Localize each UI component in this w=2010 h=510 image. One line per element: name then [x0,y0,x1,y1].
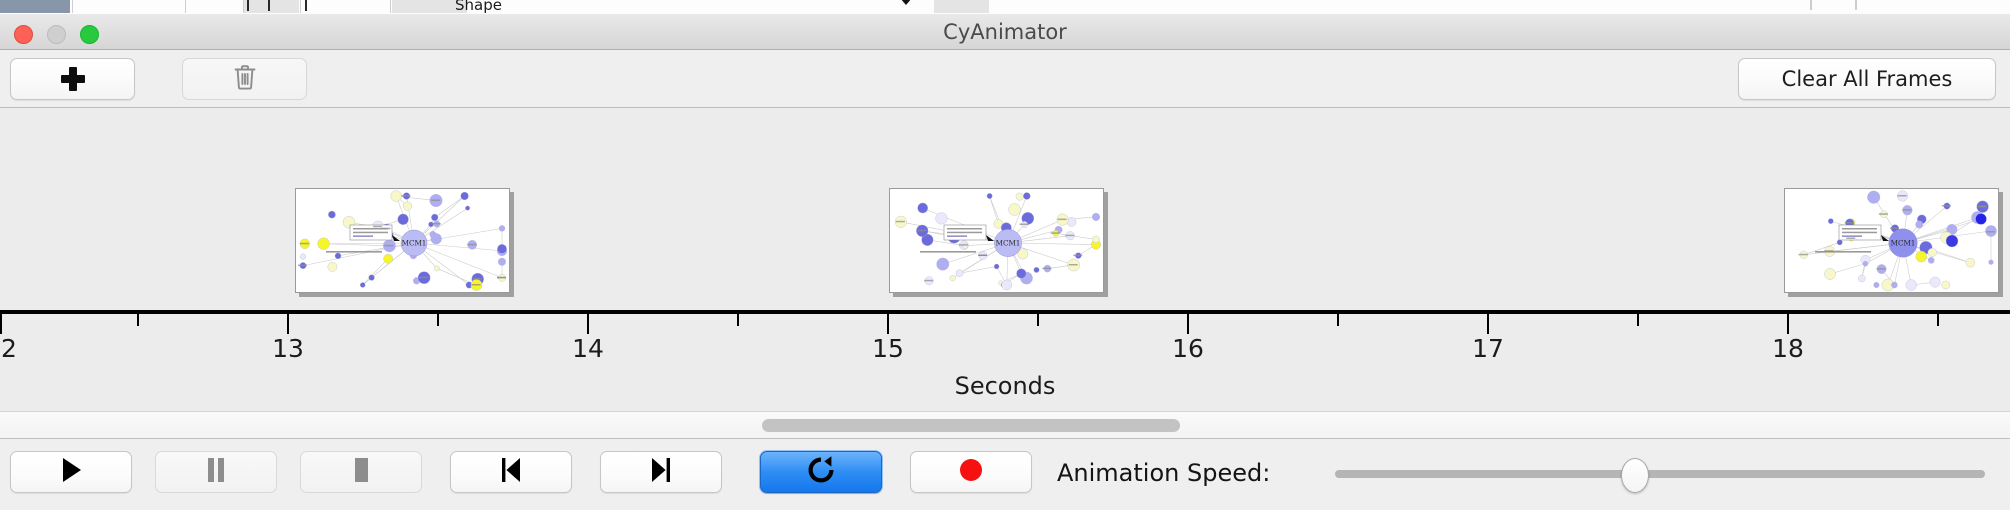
background-column-title: Shape [455,0,502,14]
axis-tick-label: 17 [1472,334,1504,363]
animation-speed-label: Animation Speed: [1057,459,1270,487]
axis-line [0,310,2010,314]
cyanimator-window: Shape CyAnimator [0,0,2010,510]
trash-icon [233,63,257,95]
plus-icon [60,66,86,92]
background-column-separator [390,0,391,13]
record-button[interactable] [910,451,1032,493]
timeline-axis[interactable]: 12131415161718 Seconds [0,310,2010,411]
axis-tick-minor [1037,314,1039,326]
background-tick [305,0,307,11]
background-selected-row [0,0,70,13]
stop-icon [350,456,372,488]
axis-tick-major [1787,314,1789,334]
background-column-separator [72,0,73,13]
background-tick [1855,0,1857,10]
background-column-separator [300,0,301,13]
background-sort-arrow-icon [900,0,912,5]
axis-tick-major [1187,314,1189,334]
axis-tick-major [0,314,2,334]
timeline-panel[interactable]: MCM1 MCM1 MCM1 12131415161718 Seconds [0,108,2010,411]
axis-tick-minor [1337,314,1339,326]
record-icon [957,456,985,488]
network-graph: MCM1 [1785,189,1998,292]
stop-button[interactable] [300,451,422,493]
axis-tick-label: 12 [0,334,17,363]
pause-button[interactable] [155,451,277,493]
delete-frame-button[interactable] [182,58,307,100]
background-column-header-cell [244,0,299,13]
axis-tick-major [287,314,289,334]
svg-text:MCM1: MCM1 [402,239,427,248]
timeline-scrollbar[interactable] [0,411,2010,439]
axis-tick-label: 13 [272,334,304,363]
toolbar: Clear All Frames [0,50,2010,108]
skip-back-icon [498,456,524,488]
background-tick [1810,0,1812,10]
clear-all-frames-button[interactable]: Clear All Frames [1738,58,1996,100]
loop-icon [806,455,836,489]
timeline-frame-thumbnail[interactable]: MCM1 [1784,188,1999,293]
play-icon [59,456,83,488]
loop-button[interactable] [760,451,882,493]
axis-tick-minor [737,314,739,326]
skip-back-button[interactable] [450,451,572,493]
clear-all-frames-label: Clear All Frames [1782,67,1953,91]
axis-tick-minor [1637,314,1639,326]
pause-icon [205,456,227,488]
background-tick [268,0,270,11]
axis-tick-label: 16 [1172,334,1204,363]
animation-speed-slider-thumb[interactable] [1621,458,1649,493]
timeline-frame-thumbnail[interactable]: MCM1 [889,188,1104,293]
background-window-strip: Shape [0,0,2010,15]
add-frame-button[interactable] [10,58,135,100]
skip-forward-button[interactable] [600,451,722,493]
axis-tick-major [887,314,889,334]
axis-tick-major [1487,314,1489,334]
network-graph: MCM1 [890,189,1103,292]
axis-tick-minor [137,314,139,326]
axis-tick-minor [1937,314,1939,326]
axis-tick-major [587,314,589,334]
svg-text:MCM1: MCM1 [1891,239,1916,248]
window-title: CyAnimator [0,20,2010,44]
axis-tick-label: 18 [1772,334,1804,363]
playback-bar: Animation Speed: [0,439,2010,510]
axis-tick-label: 15 [872,334,904,363]
svg-text:MCM1: MCM1 [996,239,1021,248]
background-column-separator [185,0,186,13]
axis-tick-minor [437,314,439,326]
axis-tick-label: 14 [572,334,604,363]
background-tick [247,0,249,11]
background-column-header-cell [934,0,989,13]
axis-title: Seconds [0,372,2010,400]
play-button[interactable] [10,451,132,493]
timeline-frame-thumbnail[interactable]: MCM1 [295,188,510,293]
title-bar[interactable]: CyAnimator [0,14,2010,50]
network-graph: MCM1 [296,189,509,292]
skip-forward-icon [648,456,674,488]
animation-speed-slider[interactable] [1335,470,1985,478]
timeline-scrollbar-thumb[interactable] [762,419,1180,432]
